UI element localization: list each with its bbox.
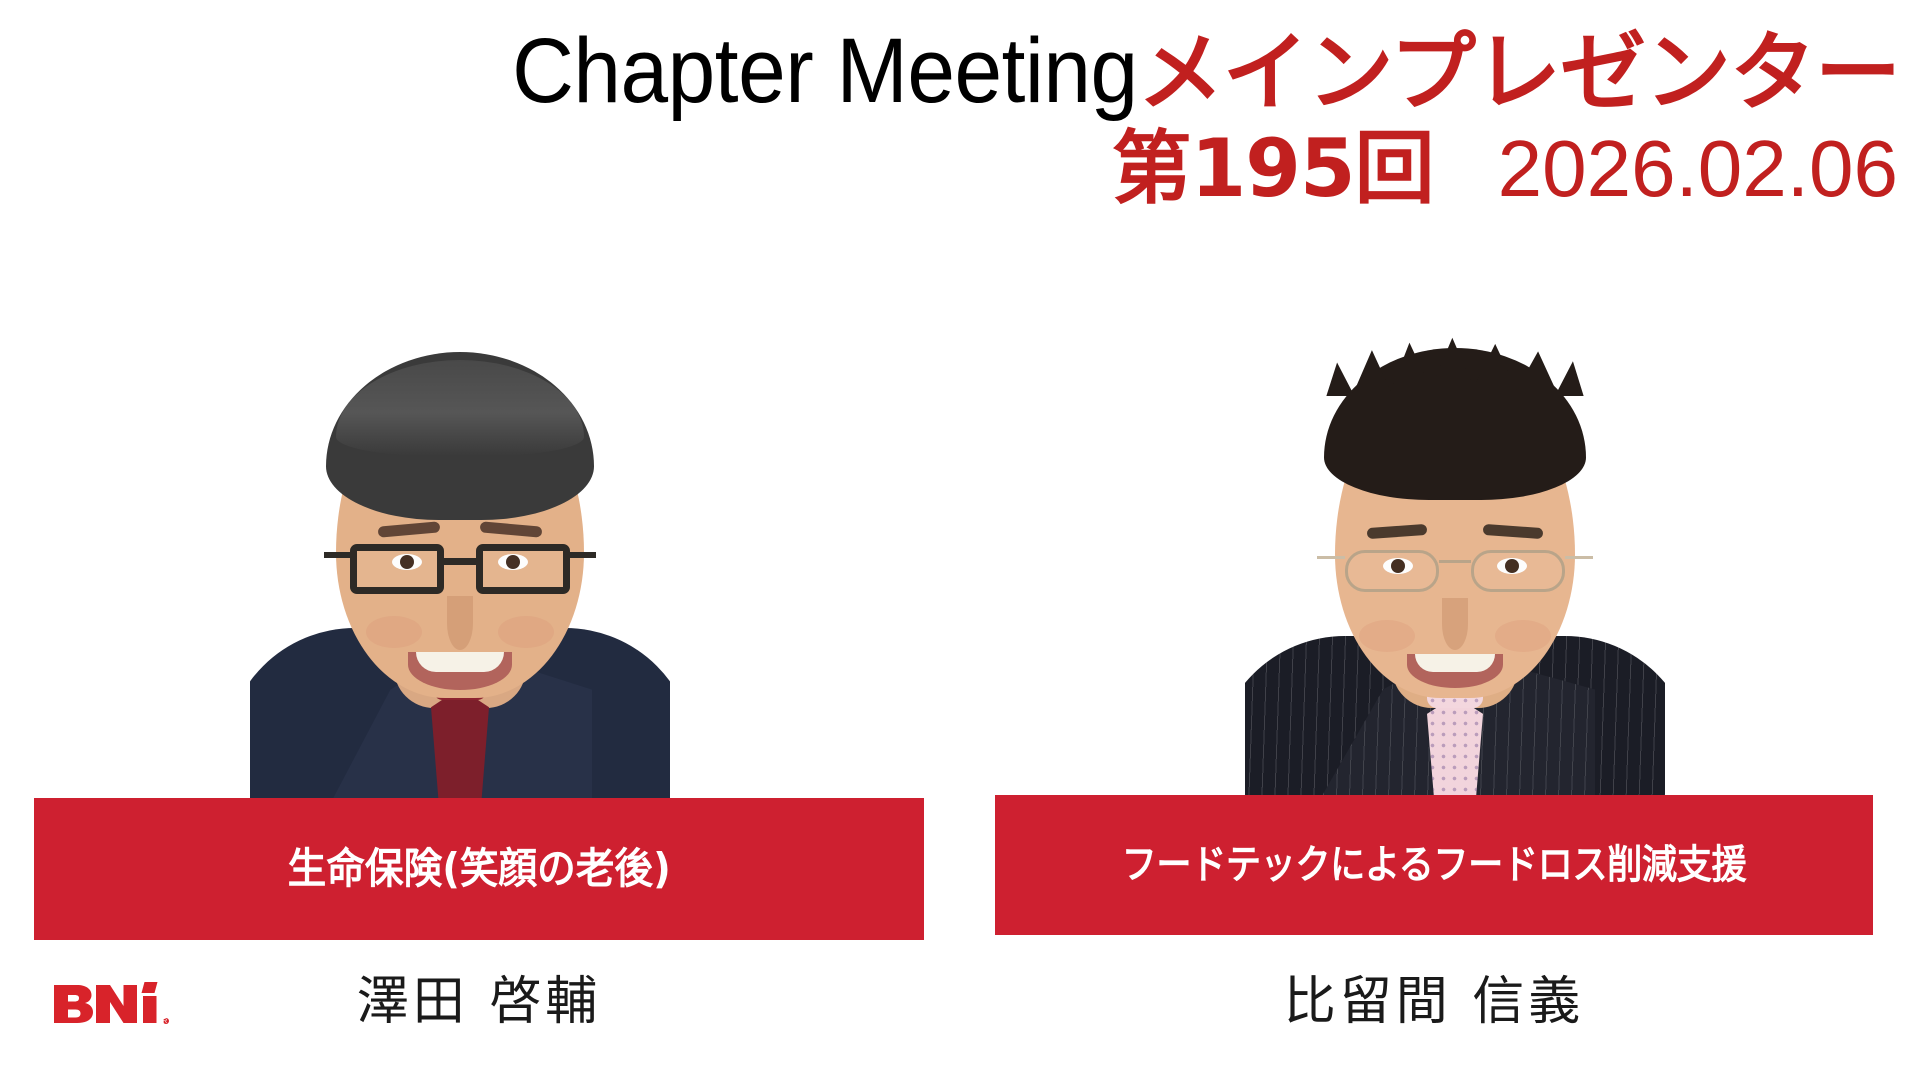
presenter-name-right: 比留間 信義 bbox=[995, 976, 1873, 1028]
presenter-photo-right bbox=[1245, 248, 1665, 808]
slide-title-japanese: メインプレゼンター bbox=[1138, 23, 1900, 123]
necktie bbox=[431, 688, 489, 808]
presentation-slide: Chapter Meetingメインプレゼンター 第195回2026.02.06 bbox=[0, 0, 1920, 1080]
bni-logo: R bbox=[52, 982, 172, 1028]
eyeglass-lens-left bbox=[1345, 550, 1439, 592]
presenter-topic-left: 生命保険(笑顔の老後) bbox=[287, 848, 670, 890]
eyeglass-temple-left bbox=[1317, 556, 1345, 559]
hair-highlight bbox=[336, 360, 584, 456]
slide-title-line-2: 第195回2026.02.06 bbox=[0, 126, 1898, 212]
eyeglass-lens-right bbox=[476, 544, 570, 594]
eyeglass-bridge bbox=[444, 558, 476, 565]
cheek-right bbox=[498, 616, 554, 648]
portrait-figure bbox=[1245, 248, 1665, 808]
slide-title-english: Chapter Meeting bbox=[512, 22, 1138, 121]
eyeglass-lens-left bbox=[350, 544, 444, 594]
cheek-left bbox=[1359, 620, 1415, 652]
slide-title-line-1: Chapter Meetingメインプレゼンター bbox=[0, 22, 1900, 121]
presenter-photo-left bbox=[250, 248, 670, 808]
nose bbox=[447, 596, 473, 650]
eyeglass-lens-right bbox=[1471, 550, 1565, 592]
teeth bbox=[416, 652, 503, 672]
cheek-left bbox=[366, 616, 422, 648]
presenter-topic-banner-left: 生命保険(笑顔の老後) bbox=[34, 798, 924, 940]
nose bbox=[1442, 598, 1468, 650]
eyeglass-temple-right bbox=[1565, 556, 1593, 559]
eyeglass-bridge bbox=[1439, 560, 1471, 563]
slide-header: Chapter Meetingメインプレゼンター 第195回2026.02.06 bbox=[0, 0, 1920, 215]
eyeglass-temple-right bbox=[570, 552, 596, 558]
teeth bbox=[1415, 654, 1496, 672]
portrait-figure bbox=[250, 248, 670, 808]
eyeglass-temple-left bbox=[324, 552, 350, 558]
meeting-date: 2026.02.06 bbox=[1498, 124, 1898, 213]
presenter-topic-right: フードテックによるフードロス削減支援 bbox=[1122, 845, 1747, 885]
session-label: 第195回 bbox=[1112, 122, 1434, 215]
cheek-right bbox=[1495, 620, 1551, 652]
eyeglasses bbox=[1339, 546, 1571, 596]
necktie bbox=[1427, 696, 1483, 808]
presenter-topic-banner-right: フードテックによるフードロス削減支援 bbox=[995, 795, 1873, 935]
hair-spikes bbox=[1321, 334, 1589, 396]
registered-trademark-symbol: R bbox=[163, 1018, 168, 1025]
eyeglasses bbox=[346, 540, 574, 598]
